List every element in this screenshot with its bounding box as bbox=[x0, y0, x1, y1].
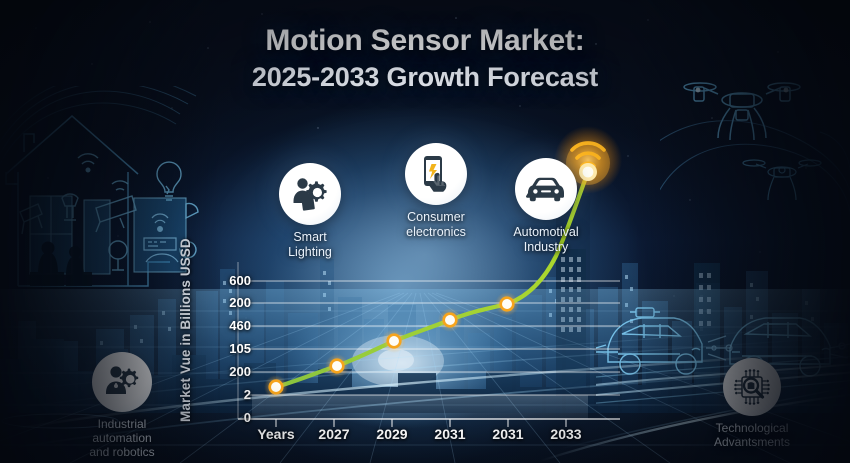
edge-vignette bbox=[0, 0, 850, 463]
infographic-poster: Market Vue in Billions USSD 600 200 460 … bbox=[0, 0, 850, 463]
